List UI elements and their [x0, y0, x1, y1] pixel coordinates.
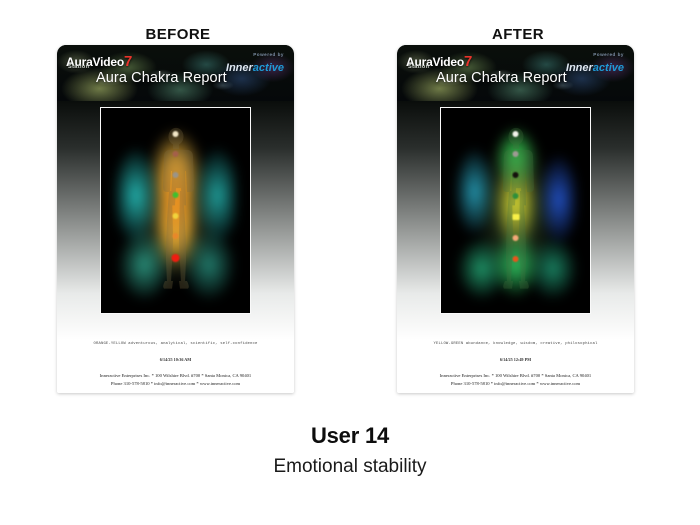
report-title-before: Aura Chakra Report: [96, 70, 227, 86]
chakra-root: [513, 256, 519, 262]
chakra-heart: [513, 193, 519, 199]
aura-color-caption-before: ORANGE-YELLOW adventurous, analytical, s…: [63, 342, 288, 346]
chakra-sacral: [173, 233, 179, 239]
brand-part-active: active: [253, 62, 284, 74]
footer-contact-line: Phone 310-578-5810 * info@inneractive.co…: [57, 380, 294, 388]
station-label-after: Station: [408, 64, 429, 70]
inneractive-logo: Inneractive: [226, 62, 284, 74]
version-number: 7: [124, 53, 132, 70]
chakra-dots-after: [511, 131, 520, 262]
report-title-after: Aura Chakra Report: [436, 70, 567, 86]
chakra-throat: [513, 172, 519, 178]
chakra-throat: [173, 172, 179, 178]
aura-field-after: [441, 108, 590, 313]
chakra-root: [172, 254, 180, 262]
page-subtitle: Emotional stability: [0, 456, 700, 478]
footer-address-line: Inneractive Enterprises Inc. * 100 Wilsh…: [57, 372, 294, 380]
page-title: User 14: [0, 423, 700, 449]
chakra-dots-before: [171, 131, 180, 262]
aura-field-before: [101, 108, 250, 313]
footer-contact-line: Phone 310-578-5810 * info@inneractive.co…: [397, 380, 634, 388]
comparison-slide: BEFORE AFTER AuraVideo7 Station Aura Cha…: [0, 0, 700, 525]
aura-image-frame-after: [440, 107, 591, 314]
station-label-before: Station: [68, 64, 89, 70]
chakra-sacral: [513, 235, 519, 241]
aura-color-caption-after: YELLOW-GREEN abundance, knowledge, wisdo…: [403, 342, 628, 346]
report-timestamp-after: 6/14/25 12:49 PM: [397, 357, 634, 362]
brand-part-inner: Inner: [566, 62, 593, 74]
footer-address-line: Inneractive Enterprises Inc. * 100 Wilsh…: [397, 372, 634, 380]
chakra-crown: [173, 131, 179, 137]
inneractive-logo: Inneractive: [566, 62, 624, 74]
chakra-solar-plexus: [512, 214, 519, 220]
chakra-heart: [173, 192, 179, 198]
brand-part-active: active: [593, 62, 624, 74]
aura-image-frame-before: [100, 107, 251, 314]
brand-part-inner: Inner: [226, 62, 253, 74]
report-timestamp-before: 6/14/25 10:36 AM: [57, 357, 294, 362]
chakra-crown: [513, 131, 519, 137]
powered-by-label: Powered by: [226, 52, 284, 57]
chakra-third-eye: [513, 151, 519, 157]
aura-report-card-before: AuraVideo7 Station Aura Chakra Report Po…: [57, 45, 294, 393]
powered-by-block-before: Powered by Inneractive: [226, 52, 284, 76]
aura-report-card-after: AuraVideo7 Station Aura Chakra Report Po…: [397, 45, 634, 393]
chakra-third-eye: [173, 151, 179, 157]
column-heading-before: BEFORE: [78, 26, 278, 43]
report-footer-after: Inneractive Enterprises Inc. * 100 Wilsh…: [397, 372, 634, 387]
report-footer-before: Inneractive Enterprises Inc. * 100 Wilsh…: [57, 372, 294, 387]
powered-by-label: Powered by: [566, 52, 624, 57]
chakra-solar-plexus: [173, 213, 179, 219]
column-heading-after: AFTER: [418, 26, 618, 43]
powered-by-block-after: Powered by Inneractive: [566, 52, 624, 76]
version-number: 7: [464, 53, 472, 70]
